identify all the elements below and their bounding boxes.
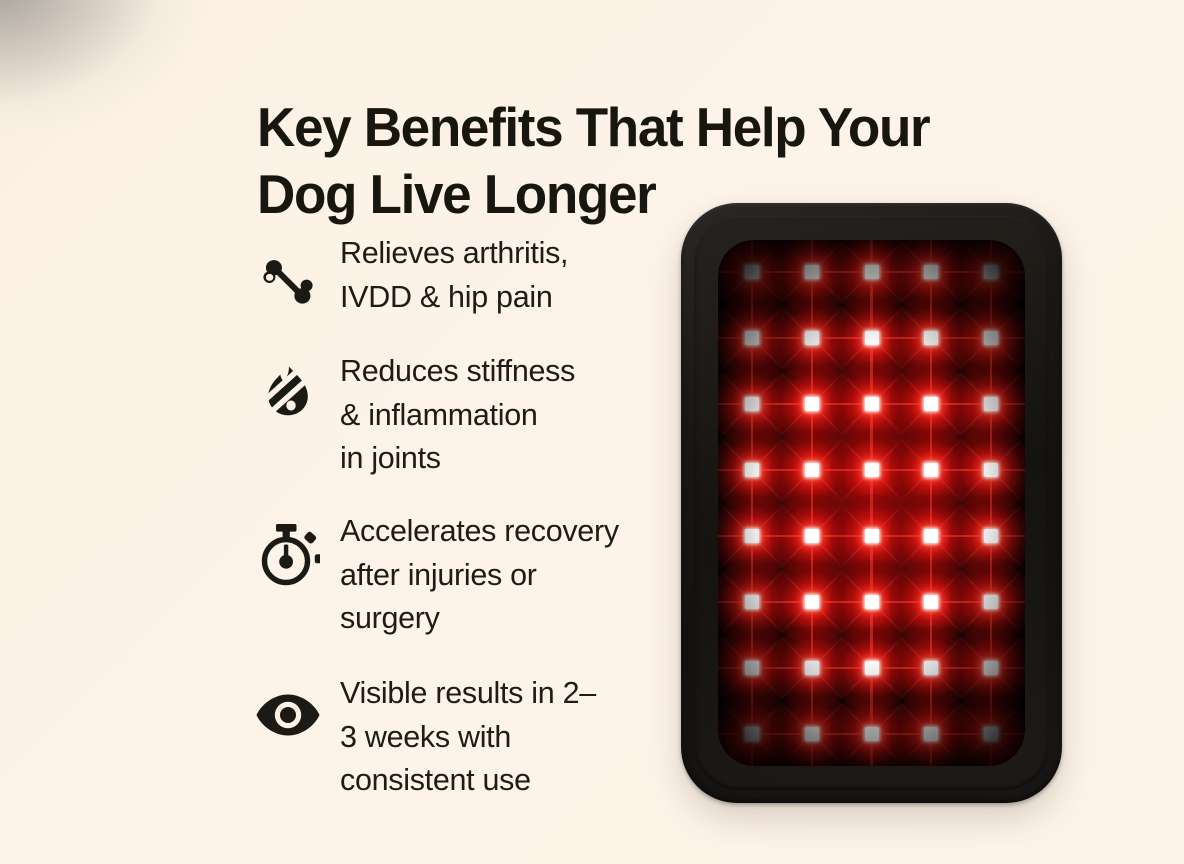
benefit-item-relieves-arthritis: Relieves arthritis, IVDD & hip pain [250, 232, 670, 350]
benefit-text: Reduces stiffness & inflammation in join… [340, 350, 670, 481]
benefit-text: Relieves arthritis, IVDD & hip pain [340, 232, 670, 319]
benefits-list: Relieves arthritis, IVDD & hip pain [250, 232, 670, 822]
benefit-item-reduces-inflammation: Reduces stiffness & inflammation in join… [250, 350, 670, 510]
benefit-text: Accelerates recovery after injuries or s… [340, 510, 670, 641]
stopwatch-icon [250, 520, 326, 588]
benefit-item-accelerates-recovery: Accelerates recovery after injuries or s… [250, 510, 670, 672]
benefit-item-visible-results: Visible results in 2– 3 weeks with consi… [250, 672, 670, 822]
device-bezel [694, 216, 1049, 790]
red-light-therapy-pad [681, 203, 1062, 803]
infographic-canvas: Key Benefits That Help Your Dog Live Lon… [0, 0, 1184, 864]
led-panel [718, 240, 1025, 766]
eye-icon [250, 690, 326, 740]
benefit-text: Visible results in 2– 3 weeks with consi… [340, 672, 670, 803]
flame-no-inflammation-icon [250, 364, 326, 426]
bone-icon [250, 250, 326, 312]
